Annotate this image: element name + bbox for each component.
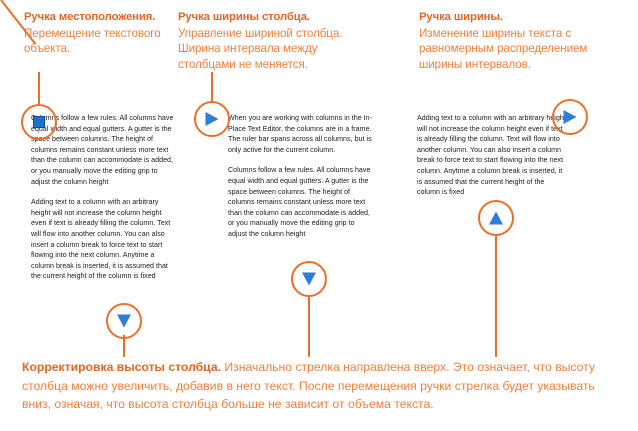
- column-height-handle-3-marker[interactable]: [478, 200, 514, 236]
- paragraph: Adding text to a column with an arbitrar…: [31, 197, 175, 282]
- paragraph: Adding text to a column with an arbitrar…: [417, 113, 567, 198]
- leader-line-column-height-3: [495, 234, 497, 357]
- column-height-handle-1-marker[interactable]: [106, 303, 142, 339]
- leader-line-location-grip: [38, 72, 40, 105]
- callout-width-grip: Ручка ширины. Изменение ширины текста с …: [419, 10, 619, 72]
- callout-column-width-grip-body: Управление шириной столбца. Ширина интер…: [178, 26, 348, 73]
- triangle-up-icon[interactable]: [489, 212, 503, 225]
- callout-location-grip-title: Ручка местоположения.: [24, 10, 179, 26]
- callout-width-grip-title: Ручка ширины.: [419, 10, 619, 26]
- column-height-handle-2-marker[interactable]: [291, 261, 327, 297]
- paragraph: Columns follow a few rules. All columns …: [228, 165, 372, 239]
- bottom-caption-title: Корректировка высоты столбца.: [22, 360, 221, 374]
- illustration-canvas: Ручка местоположения. Перемещение тексто…: [0, 0, 638, 431]
- paragraph: When you are working with columns in the…: [228, 113, 372, 155]
- triangle-down-icon[interactable]: [302, 273, 316, 286]
- triangle-down-icon[interactable]: [117, 315, 131, 328]
- column-width-handle-marker[interactable]: [194, 101, 230, 137]
- callout-column-width-grip-title: Ручка ширины столбца.: [178, 10, 348, 26]
- text-column-1: Columns follow a few rules. All columns …: [31, 113, 175, 292]
- width-handle-marker[interactable]: [552, 99, 588, 135]
- text-column-2: When you are working with columns in the…: [228, 113, 372, 250]
- text-column-3: Adding text to a column with an arbitrar…: [417, 113, 567, 208]
- move-handle-marker[interactable]: [21, 104, 57, 140]
- callout-column-width-grip: Ручка ширины столбца. Управление шириной…: [178, 10, 348, 72]
- triangle-right-icon[interactable]: [564, 110, 577, 124]
- triangle-right-icon[interactable]: [206, 112, 219, 126]
- square-handle-icon[interactable]: [33, 116, 45, 128]
- leader-line-column-width-grip: [211, 72, 213, 102]
- callout-width-grip-body: Изменение ширины текста с равномерным ра…: [419, 26, 619, 73]
- bottom-caption: Корректировка высоты столбца. Изначально…: [22, 358, 620, 414]
- callout-location-grip: Ручка местоположения. Перемещение тексто…: [24, 10, 179, 57]
- leader-line-column-height-2: [308, 295, 310, 357]
- callout-location-grip-body: Перемещение текстового объекта.: [24, 26, 179, 57]
